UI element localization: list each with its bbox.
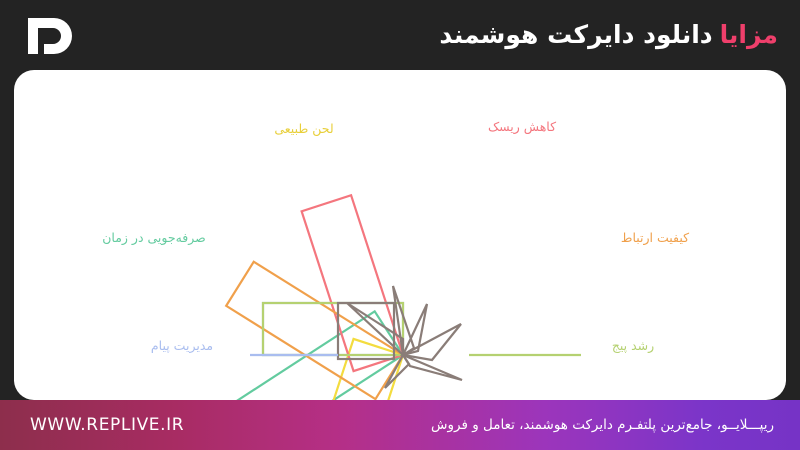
- header-bar: مزایا دانلود دایرکت هوشمند: [0, 0, 800, 70]
- replive-r-logo-icon: [22, 12, 78, 58]
- footer-bar: WWW.REPLIVE.IR ریپـــلایــو، جامع‌ترین پ…: [0, 400, 800, 450]
- label-risk-reduction: کاهش ریسک: [488, 121, 556, 134]
- label-time-saving: صرفه‌جویی در زمان: [102, 232, 206, 245]
- label-page-growth: رشد پیج: [612, 340, 654, 353]
- page-title-accent: مزایا: [720, 20, 778, 49]
- page-title: مزایا دانلود دایرکت هوشمند: [439, 12, 778, 56]
- footer-tagline: ریپـــلایــو، جامع‌ترین پلتفـرم دایرکت ه…: [431, 400, 774, 450]
- label-message-management: مدیریت پیام: [151, 340, 213, 353]
- label-natural-tone: لحن طبیعی: [274, 123, 333, 136]
- label-communication-quality: کیفیت ارتباط: [621, 232, 689, 245]
- slide-canvas: مزایا دانلود دایرکت هوشمند: [0, 0, 800, 450]
- page-title-rest: دانلود دایرکت هوشمند: [439, 20, 712, 49]
- content-card: مدیریت پیام صرفه‌جویی در زمان لحن طبیعی …: [14, 70, 786, 400]
- website-url[interactable]: WWW.REPLIVE.IR: [30, 400, 184, 450]
